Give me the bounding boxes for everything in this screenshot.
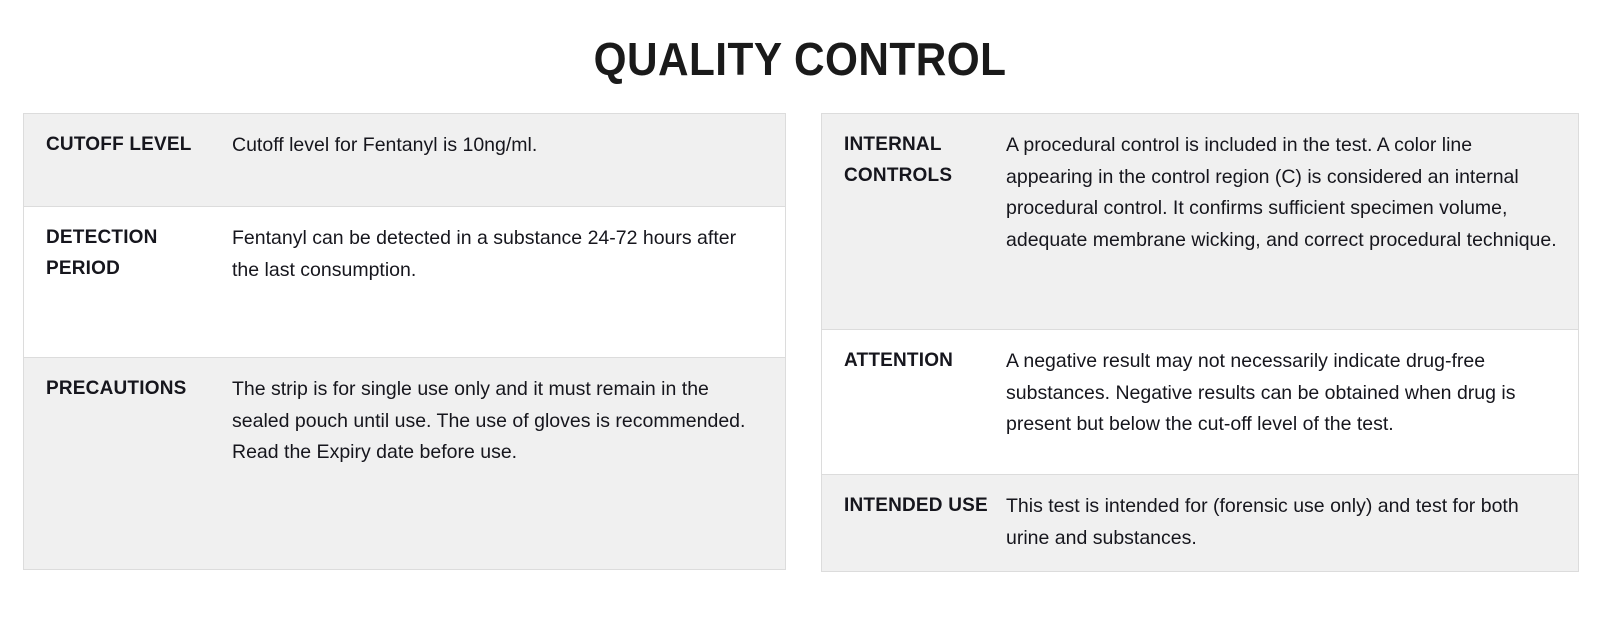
row-body: A negative result may not necessarily in… bbox=[1006, 330, 1578, 457]
tables-container: CUTOFF LEVEL Cutoff level for Fentanyl i… bbox=[23, 113, 1579, 572]
row-label: ATTENTION bbox=[822, 330, 1006, 393]
page-title: QUALITY CONTROL bbox=[64, 34, 1536, 85]
right-spec-table: INTERNAL CONTROLS A procedural control i… bbox=[821, 113, 1579, 572]
left-spec-table: CUTOFF LEVEL Cutoff level for Fentanyl i… bbox=[23, 113, 786, 570]
table-row: ATTENTION A negative result may not nece… bbox=[822, 330, 1578, 475]
row-body: Cutoff level for Fentanyl is 10ng/ml. bbox=[232, 114, 785, 178]
row-label: INTENDED USE bbox=[822, 475, 1006, 538]
row-label: PRECAUTIONS bbox=[24, 358, 232, 421]
table-row: CUTOFF LEVEL Cutoff level for Fentanyl i… bbox=[24, 114, 785, 207]
table-row: INTENDED USE This test is intended for (… bbox=[822, 475, 1578, 571]
table-row: INTERNAL CONTROLS A procedural control i… bbox=[822, 114, 1578, 330]
row-body: Fentanyl can be detected in a substance … bbox=[232, 207, 785, 302]
table-row: DETECTION PERIOD Fentanyl can be detecte… bbox=[24, 207, 785, 358]
row-label: DETECTION PERIOD bbox=[24, 207, 232, 301]
row-label: INTERNAL CONTROLS bbox=[822, 114, 1006, 208]
table-row: PRECAUTIONS The strip is for single use … bbox=[24, 358, 785, 569]
row-body: This test is intended for (forensic use … bbox=[1006, 475, 1578, 570]
row-body: A procedural control is included in the … bbox=[1006, 114, 1578, 272]
quality-control-page: QUALITY CONTROL CUTOFF LEVEL Cutoff leve… bbox=[0, 0, 1600, 628]
row-label: CUTOFF LEVEL bbox=[24, 114, 232, 177]
row-body: The strip is for single use only and it … bbox=[232, 358, 785, 485]
